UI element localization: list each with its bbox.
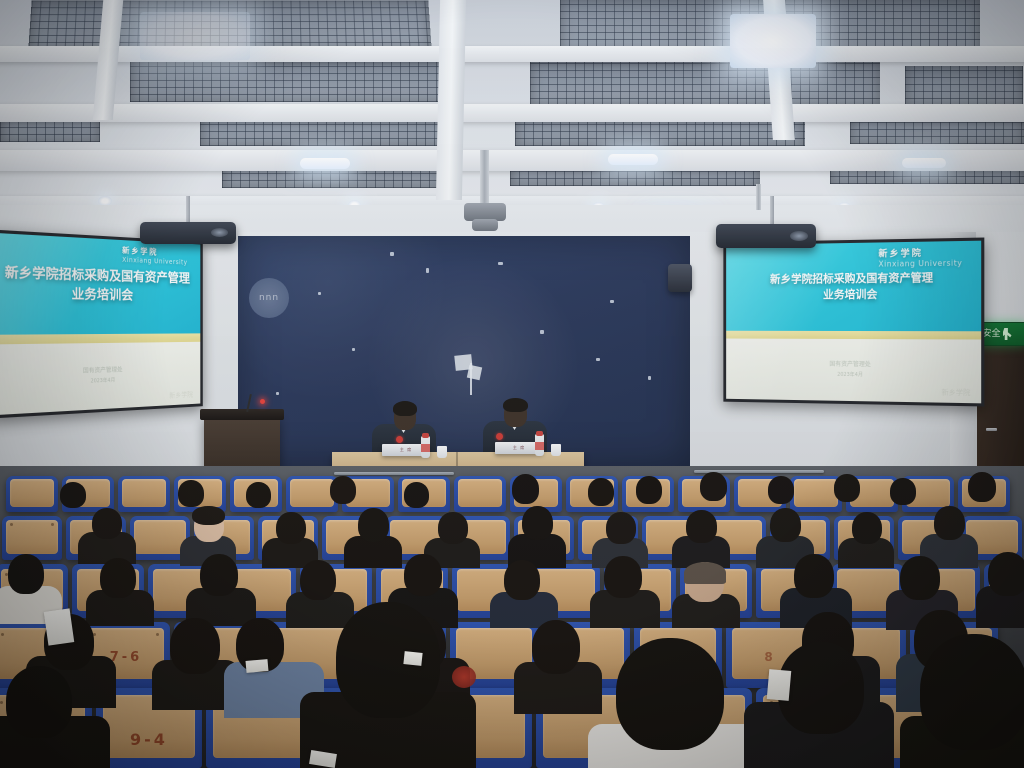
paper-sheet [246, 659, 269, 673]
attendee-head [604, 556, 642, 598]
seat-panel [458, 479, 503, 507]
paper-cup [437, 446, 447, 458]
wall-speck [596, 358, 600, 361]
attendee-head [300, 560, 336, 600]
ceiling-projector [716, 224, 816, 248]
audience-seating: 7-6 8 6 9-4 [0, 466, 1024, 768]
slide-content: 新乡学院 Xinxiang University 新乡学院招标采购及国有资产管理… [0, 233, 200, 416]
wall-speck [648, 376, 651, 380]
seat-screw [10, 523, 13, 526]
door-handle[interactable] [986, 428, 997, 431]
attendee-head [920, 634, 1024, 750]
attendee-head [100, 558, 136, 598]
slide-corner-mark: 新乡学院 [941, 387, 970, 398]
attendee-head [588, 478, 614, 506]
projector-mount [770, 196, 774, 224]
seat-armrail [334, 472, 454, 475]
slide-title-line1: 新乡学院招标采购及国有资产管理 [770, 270, 933, 288]
slide-logo: 新乡学院 Xinxiang University [122, 245, 187, 266]
attendee-head [522, 506, 553, 540]
paper-sheet [44, 608, 74, 645]
exit-sign-label: 安全 [982, 330, 1000, 339]
left-projection-screen: 新乡学院 Xinxiang University 新乡学院招标采购及国有资产管理… [0, 229, 203, 418]
attendee-head [890, 478, 916, 505]
projector-mast [756, 184, 761, 210]
wall-speck [318, 292, 321, 295]
attendee-head [900, 556, 940, 600]
attendee-head [770, 508, 801, 542]
attendee-head [404, 482, 429, 508]
paper-sheet [767, 669, 792, 701]
seat-screw [0, 701, 3, 704]
attendee-head [834, 474, 860, 502]
ceiling-projector [140, 222, 236, 244]
slide-header: 新乡学院 Xinxiang University 新乡学院招标采购及国有资产管理… [0, 233, 200, 335]
projector-lens [790, 231, 808, 241]
slide-header: 新乡学院 Xinxiang University 新乡学院招标采购及国有资产管理… [726, 241, 981, 332]
projector-lens [211, 228, 228, 237]
attendee-head [404, 554, 442, 596]
seat-panel [290, 479, 335, 507]
ceiling [0, 0, 1024, 232]
attendee-head [438, 512, 468, 544]
seat-number: 9-4 [103, 730, 194, 749]
seat[interactable] [6, 476, 58, 512]
ceiling-coffer [130, 60, 450, 102]
ceiling-light [730, 14, 816, 68]
indicator-light [260, 399, 265, 404]
attendee-head [92, 508, 122, 539]
attendee-head [606, 512, 636, 544]
attendee-head [6, 666, 72, 738]
paper-cup [551, 444, 561, 456]
attendee-head [358, 508, 389, 542]
ceiling-light [140, 12, 250, 60]
attendee-head [60, 482, 86, 508]
stage-backdrop [238, 236, 690, 466]
projector-mast-head [472, 219, 498, 231]
wall-speck [610, 300, 614, 303]
attendee-head [512, 474, 539, 504]
wall-tape-mark [470, 363, 472, 395]
wall-speck [540, 330, 544, 334]
slide-subtitle-line1: 国有资产管理处 [829, 360, 870, 371]
slide-title-line2: 业务培训会 [72, 286, 133, 306]
attendee-head [934, 506, 965, 540]
ceiling-light [608, 154, 658, 165]
wall-speck [352, 348, 355, 351]
attendee-head [200, 554, 238, 596]
speaker-hair [393, 401, 417, 416]
podium-top [200, 409, 284, 420]
seat-screw [156, 633, 159, 636]
slide-logo: 新乡学院 Xinxiang University [878, 246, 962, 270]
attendee-head [636, 476, 662, 504]
slide-title-line1: 新乡学院招标采购及国有资产管理 [5, 264, 190, 289]
wall-emblem: nnn [249, 278, 289, 318]
nameplate-text: 主 席 [513, 445, 525, 451]
speaker-hair [503, 398, 528, 412]
slide-footer: 国有资产管理处 2023年4月 新乡学院 [0, 341, 200, 415]
attendee-head [988, 552, 1024, 596]
bottle-cap [422, 433, 429, 438]
seat-panel [6, 520, 58, 554]
attendee-head [532, 620, 580, 674]
water-bottle [421, 436, 430, 458]
bottle-cap [536, 431, 543, 436]
slide-corner-mark: 新乡学院 [169, 390, 193, 401]
attendee-head [852, 512, 882, 544]
attendee-head [686, 510, 717, 543]
seat[interactable] [2, 516, 62, 560]
slide-footer: 国有资产管理处 2023年4月 新乡学院 [726, 339, 981, 403]
slide-subtitle-line2: 2023年4月 [91, 376, 115, 386]
attendee-hair [684, 562, 726, 584]
bottle-label [421, 444, 430, 452]
attendee-head [768, 476, 794, 504]
projector-mast [480, 150, 489, 206]
attendee-head [246, 482, 271, 508]
wall-speck [498, 262, 503, 265]
seat[interactable] [454, 476, 506, 512]
attendee-head [178, 480, 204, 507]
ceiling-beam [0, 150, 1024, 171]
attendee-head [616, 638, 724, 750]
wall-speck [426, 268, 429, 273]
ceiling-light [902, 158, 946, 168]
seat-panel [122, 479, 167, 507]
attendee-hair [192, 506, 225, 525]
speaker-badge [496, 433, 503, 440]
ceiling-coffer [905, 66, 1023, 106]
paper-sheet [403, 651, 422, 666]
attendee-head [778, 642, 864, 734]
attendee-head [8, 554, 44, 594]
ceiling-coffer [530, 62, 880, 106]
ceiling-light [300, 158, 350, 169]
slide-subtitle-line1: 国有资产管理处 [83, 365, 123, 377]
ceiling-beam [436, 0, 466, 200]
attendee-head [968, 472, 996, 502]
attendee-head [336, 602, 440, 718]
seat[interactable] [118, 476, 170, 512]
attendee-head [504, 560, 540, 600]
hair-accessory [452, 666, 476, 688]
seat-panel [794, 479, 839, 507]
attendee-head [700, 472, 727, 501]
right-projection-screen: 新乡学院 Xinxiang University 新乡学院招标采购及国有资产管理… [723, 238, 984, 407]
water-bottle [535, 434, 544, 456]
slide-content: 新乡学院 Xinxiang University 新乡学院招标采购及国有资产管理… [726, 241, 981, 404]
projector-mount [186, 196, 190, 222]
ceiling-beam [0, 104, 1024, 122]
attendee-head [330, 476, 356, 504]
attendee-head [170, 618, 220, 674]
speaker-badge [396, 436, 403, 443]
slide-subtitle-line2: 2023年4月 [837, 371, 863, 380]
attendee-head [794, 554, 834, 598]
wall-speck [276, 392, 279, 395]
attendee-head [276, 512, 306, 544]
running-man-icon [1003, 328, 1012, 340]
slide-title-line2: 业务培训会 [823, 287, 877, 303]
seat-panel [10, 479, 55, 507]
seat-panel [134, 520, 186, 554]
ceiling-speaker [668, 264, 692, 292]
auditorium-photo: 安全 nnn 新乡学院 Xinxiang University 新乡学院招标采购… [0, 0, 1024, 768]
nameplate-text: 主 席 [400, 447, 412, 453]
wall-speck [390, 252, 394, 256]
bottle-label [535, 442, 544, 450]
